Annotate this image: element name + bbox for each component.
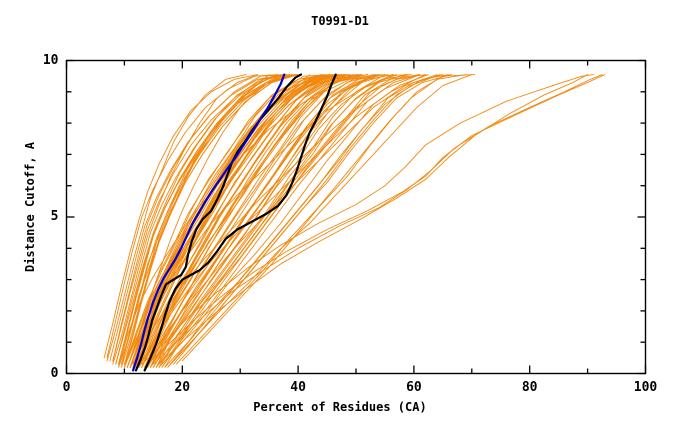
x-axis-label: Percent of Residues (CA) [0,400,680,414]
x-tick-label: 0 [37,380,97,395]
curve-group [104,75,605,371]
x-tick-label: 60 [384,380,444,395]
ensemble-curve [150,75,376,368]
highlight-curve [133,75,284,371]
y-tick-label: 0 [19,366,59,381]
y-tick-label: 5 [19,209,59,224]
ensemble-curve [139,75,342,368]
y-axis-label: Distance Cutoff, A [23,97,37,317]
ensemble-curve [150,75,376,368]
x-tick-label: 100 [616,380,676,395]
y-tick-label: 10 [19,53,59,68]
x-tick-label: 20 [152,380,212,395]
chart-figure: T0991-D1 Distance Cutoff, A Percent of R… [0,0,680,440]
plot-area [0,0,680,440]
chart-title: T0991-D1 [0,14,680,28]
x-tick-label: 80 [500,380,560,395]
x-tick-label: 40 [268,380,328,395]
